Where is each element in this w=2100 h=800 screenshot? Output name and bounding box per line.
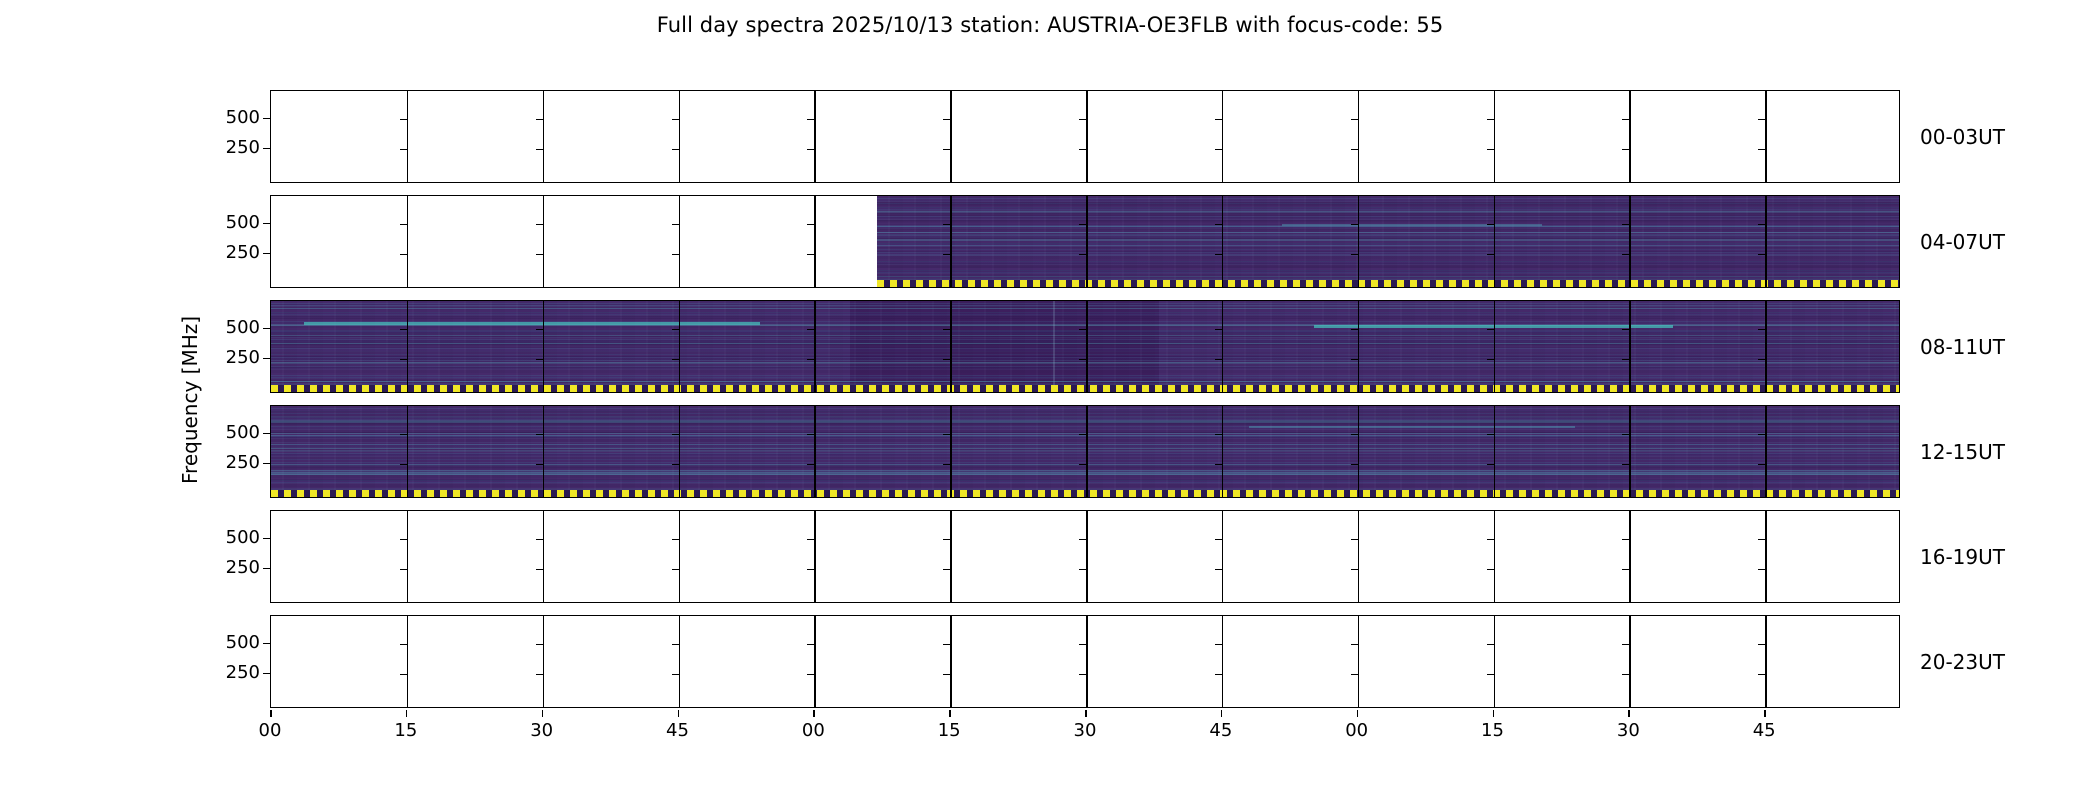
panel-axes <box>270 615 1900 708</box>
grid-line-vertical <box>1086 91 1088 182</box>
grid-line-vertical <box>1086 511 1088 602</box>
spectral-striation <box>877 226 1900 227</box>
y-tick-mark <box>263 328 270 330</box>
inner-tick-mark <box>1079 359 1086 361</box>
grid-line-vertical <box>1358 511 1360 602</box>
inner-tick-mark <box>943 359 950 361</box>
inner-tick-mark <box>1487 224 1494 226</box>
x-tick-mark <box>270 710 272 717</box>
inner-tick-mark <box>672 464 679 466</box>
grid-line-vertical <box>950 196 952 287</box>
axes-stack <box>270 90 1900 710</box>
grid-line-vertical <box>1629 616 1631 707</box>
grid-line-vertical <box>950 406 952 497</box>
inner-tick-mark <box>1758 254 1765 256</box>
inner-tick-mark <box>1215 539 1222 541</box>
inner-tick-mark <box>536 224 543 226</box>
inner-tick-mark <box>672 119 679 121</box>
x-tick-label: 45 <box>1209 722 1232 740</box>
inner-tick-mark <box>672 644 679 646</box>
grid-line-vertical <box>1629 301 1631 392</box>
spectrogram-panel-04-07ut <box>270 195 1900 288</box>
inner-tick-mark <box>672 569 679 571</box>
inner-tick-mark <box>943 539 950 541</box>
inner-tick-mark <box>536 329 543 331</box>
inner-tick-mark <box>1622 644 1629 646</box>
inner-tick-mark <box>1215 224 1222 226</box>
inner-tick-mark <box>1351 254 1358 256</box>
inner-tick-mark <box>807 674 814 676</box>
x-tick-mark <box>678 710 680 717</box>
grid-line-vertical <box>1629 91 1631 182</box>
inner-tick-mark <box>400 464 407 466</box>
x-tick-mark <box>1085 710 1087 717</box>
inner-tick-mark <box>1622 254 1629 256</box>
grid-line-vertical <box>1086 301 1088 392</box>
grid-line-vertical <box>679 406 681 497</box>
inner-tick-mark <box>1079 254 1086 256</box>
grid-line-vertical <box>1222 616 1224 707</box>
x-tick-label: 00 <box>1345 722 1368 740</box>
inner-tick-mark <box>1079 119 1086 121</box>
y-tick-mark <box>263 358 270 360</box>
grid-line-vertical <box>407 616 409 707</box>
spectral-striation <box>877 265 1900 266</box>
row-label-20-23ut: 20-23UT <box>1920 652 2005 672</box>
grid-line-vertical <box>814 406 816 497</box>
spectrogram-data <box>877 196 1900 287</box>
x-tick-label: 30 <box>1074 722 1097 740</box>
inner-tick-mark <box>1758 359 1765 361</box>
grid-line-vertical <box>814 91 816 182</box>
inner-tick-mark <box>807 329 814 331</box>
grid-line-vertical <box>1222 196 1224 287</box>
inner-tick-mark <box>807 644 814 646</box>
inner-tick-mark <box>672 539 679 541</box>
inner-tick-mark <box>400 674 407 676</box>
grid-line-vertical <box>1629 406 1631 497</box>
inner-tick-mark <box>400 569 407 571</box>
inner-tick-mark <box>943 569 950 571</box>
inner-tick-mark <box>1215 119 1222 121</box>
panel-axes <box>270 405 1900 498</box>
spectral-striation <box>877 251 1900 252</box>
y-tick-label: 500 <box>198 529 260 547</box>
y-tick-label: 250 <box>198 244 260 262</box>
bright-emission-band <box>304 322 760 325</box>
grid-line-vertical <box>814 196 816 287</box>
grid-line-vertical <box>407 91 409 182</box>
grid-line-vertical <box>950 301 952 392</box>
grid-line-vertical <box>407 301 409 392</box>
inner-tick-mark <box>1622 674 1629 676</box>
inner-tick-mark <box>1622 149 1629 151</box>
grid-line-vertical <box>1086 616 1088 707</box>
inner-tick-mark <box>807 359 814 361</box>
inner-tick-mark <box>1758 539 1765 541</box>
y-tick-label: 500 <box>198 109 260 127</box>
inner-tick-mark <box>672 434 679 436</box>
inner-tick-mark <box>1487 254 1494 256</box>
grid-line-vertical <box>814 616 816 707</box>
inner-tick-mark <box>1079 644 1086 646</box>
panel-axes <box>270 195 1900 288</box>
inner-tick-mark <box>943 149 950 151</box>
grid-line-vertical <box>814 301 816 392</box>
x-tick-mark <box>1221 710 1223 717</box>
row-label-04-07ut: 04-07UT <box>1920 232 2005 252</box>
grid-line-vertical <box>679 616 681 707</box>
grid-line-vertical <box>1358 406 1360 497</box>
inner-tick-mark <box>1758 119 1765 121</box>
panel-axes <box>270 300 1900 393</box>
grid-line-vertical <box>1222 91 1224 182</box>
y-tick-mark <box>263 463 270 465</box>
inner-tick-mark <box>807 224 814 226</box>
row-label-12-15ut: 12-15UT <box>1920 442 2005 462</box>
inner-tick-mark <box>1487 149 1494 151</box>
inner-tick-mark <box>1079 539 1086 541</box>
spectral-striation <box>877 261 1900 262</box>
spectral-striation <box>877 238 1900 239</box>
grid-line-vertical <box>543 616 545 707</box>
inner-tick-mark <box>1622 119 1629 121</box>
inner-tick-mark <box>807 254 814 256</box>
grid-line-vertical <box>1494 406 1496 497</box>
inner-tick-mark <box>400 434 407 436</box>
x-tick-label: 30 <box>1617 722 1640 740</box>
spectral-striation <box>877 254 1900 255</box>
inner-tick-mark <box>943 254 950 256</box>
grid-line-vertical <box>407 196 409 287</box>
grid-line-vertical <box>1629 196 1631 287</box>
x-tick-label: 15 <box>394 722 417 740</box>
inner-tick-mark <box>1622 434 1629 436</box>
inner-tick-mark <box>536 359 543 361</box>
vertical-streak <box>1053 301 1055 392</box>
x-tick-label: 00 <box>259 722 282 740</box>
y-tick-label: 500 <box>198 634 260 652</box>
y-tick-label: 250 <box>198 454 260 472</box>
inner-tick-mark <box>1758 329 1765 331</box>
inner-tick-mark <box>672 149 679 151</box>
spectrogram-panel-16-19ut <box>270 510 1900 603</box>
grid-line-vertical <box>543 511 545 602</box>
grid-line-vertical <box>407 406 409 497</box>
inner-tick-mark <box>1215 569 1222 571</box>
grid-line-vertical <box>679 301 681 392</box>
inner-tick-mark <box>1487 434 1494 436</box>
spectrogram-vertical-mottle <box>877 196 1900 287</box>
x-tick-label: 30 <box>530 722 553 740</box>
inner-tick-mark <box>1758 224 1765 226</box>
inner-tick-mark <box>1487 569 1494 571</box>
inner-tick-mark <box>943 119 950 121</box>
inner-tick-mark <box>1351 149 1358 151</box>
inner-tick-mark <box>1758 464 1765 466</box>
inner-tick-mark <box>943 674 950 676</box>
row-label-16-19ut: 16-19UT <box>1920 547 2005 567</box>
y-tick-mark <box>263 643 270 645</box>
inner-tick-mark <box>1622 359 1629 361</box>
inner-tick-mark <box>1487 329 1494 331</box>
grid-line-vertical <box>1494 301 1496 392</box>
inner-tick-mark <box>1758 434 1765 436</box>
y-tick-mark <box>263 673 270 675</box>
spectral-striation <box>877 276 1900 277</box>
inner-tick-mark <box>1215 434 1222 436</box>
bright-emission-band <box>1282 224 1543 226</box>
inner-tick-mark <box>400 254 407 256</box>
grid-line-vertical <box>1494 91 1496 182</box>
spectrogram-panel-00-03ut <box>270 90 1900 183</box>
inner-tick-mark <box>536 254 543 256</box>
inner-tick-mark <box>807 149 814 151</box>
spectral-striation <box>877 213 1900 215</box>
inner-tick-mark <box>1487 359 1494 361</box>
inner-tick-mark <box>1351 329 1358 331</box>
grid-line-vertical <box>814 511 816 602</box>
inner-tick-mark <box>1622 224 1629 226</box>
inner-tick-mark <box>672 329 679 331</box>
inner-tick-mark <box>536 674 543 676</box>
inner-tick-mark <box>1215 359 1222 361</box>
inner-tick-mark <box>807 119 814 121</box>
inner-tick-mark <box>1215 254 1222 256</box>
inner-tick-mark <box>1351 569 1358 571</box>
inner-tick-mark <box>1622 329 1629 331</box>
spectral-striation <box>877 232 1900 233</box>
spectral-striation <box>877 207 1900 208</box>
inner-tick-mark <box>536 644 543 646</box>
grid-line-vertical <box>1358 301 1360 392</box>
inner-tick-mark <box>1351 434 1358 436</box>
inner-tick-mark <box>536 539 543 541</box>
inner-tick-mark <box>1351 224 1358 226</box>
inner-tick-mark <box>400 644 407 646</box>
inner-tick-mark <box>536 464 543 466</box>
panel-axes <box>270 90 1900 183</box>
spectral-striation <box>877 204 1900 206</box>
x-tick-mark <box>406 710 408 717</box>
x-tick-mark <box>1357 710 1359 717</box>
grid-line-vertical <box>1494 196 1496 287</box>
grid-line-vertical <box>1765 406 1767 497</box>
x-tick-label: 45 <box>1753 722 1776 740</box>
inner-tick-mark <box>1351 644 1358 646</box>
y-tick-mark <box>263 568 270 570</box>
inner-tick-mark <box>400 149 407 151</box>
inner-tick-mark <box>1622 539 1629 541</box>
spectral-striation <box>877 220 1900 221</box>
grid-line-vertical <box>543 196 545 287</box>
inner-tick-mark <box>943 644 950 646</box>
spectral-striation <box>877 278 1900 279</box>
inner-tick-mark <box>1622 569 1629 571</box>
inner-tick-mark <box>1351 539 1358 541</box>
grid-line-vertical <box>1222 406 1224 497</box>
grid-line-vertical <box>1765 511 1767 602</box>
inner-tick-mark <box>536 119 543 121</box>
spectral-striation <box>877 217 1900 218</box>
x-tick-label: 15 <box>1481 722 1504 740</box>
inner-tick-mark <box>1487 464 1494 466</box>
grid-line-vertical <box>1765 196 1767 287</box>
grid-line-vertical <box>1358 196 1360 287</box>
y-tick-mark <box>263 538 270 540</box>
inner-tick-mark <box>400 539 407 541</box>
spectral-striation <box>877 263 1900 264</box>
y-tick-label: 500 <box>198 424 260 442</box>
inner-tick-mark <box>1079 224 1086 226</box>
y-tick-mark <box>263 118 270 120</box>
inner-tick-mark <box>1079 464 1086 466</box>
inner-tick-mark <box>1215 644 1222 646</box>
grid-line-vertical <box>1358 616 1360 707</box>
inner-tick-mark <box>1215 329 1222 331</box>
inner-tick-mark <box>1487 674 1494 676</box>
spectral-striation <box>877 271 1900 273</box>
inner-tick-mark <box>807 464 814 466</box>
inner-tick-mark <box>400 359 407 361</box>
inner-tick-mark <box>943 434 950 436</box>
spectral-striation <box>877 245 1900 246</box>
grid-line-vertical <box>950 616 952 707</box>
inner-tick-mark <box>943 464 950 466</box>
inner-tick-mark <box>1079 434 1086 436</box>
spectral-striation <box>877 215 1900 216</box>
inner-tick-mark <box>1487 539 1494 541</box>
inner-tick-mark <box>400 329 407 331</box>
grid-line-vertical <box>543 301 545 392</box>
x-tick-mark <box>542 710 544 717</box>
inner-tick-mark <box>1351 119 1358 121</box>
y-tick-mark <box>263 148 270 150</box>
inner-tick-mark <box>400 224 407 226</box>
inner-tick-mark <box>1351 359 1358 361</box>
inner-tick-mark <box>672 674 679 676</box>
inner-tick-mark <box>1758 149 1765 151</box>
grid-line-vertical <box>679 511 681 602</box>
grid-line-vertical <box>1494 511 1496 602</box>
y-tick-label: 250 <box>198 559 260 577</box>
x-tick-mark <box>1493 710 1495 717</box>
inner-tick-mark <box>400 119 407 121</box>
spectral-striation <box>877 235 1900 236</box>
grid-line-vertical <box>1765 91 1767 182</box>
inner-tick-mark <box>1215 464 1222 466</box>
grid-line-vertical <box>950 511 952 602</box>
inner-tick-mark <box>1215 674 1222 676</box>
inner-tick-mark <box>1351 464 1358 466</box>
x-tick-label: 15 <box>938 722 961 740</box>
grid-line-vertical <box>543 406 545 497</box>
spectrogram-panel-12-15ut <box>270 405 1900 498</box>
inner-tick-mark <box>1079 329 1086 331</box>
grid-line-vertical <box>1086 406 1088 497</box>
grid-line-vertical <box>1222 511 1224 602</box>
spectral-striation <box>877 228 1900 230</box>
inner-tick-mark <box>1079 569 1086 571</box>
inner-tick-mark <box>1079 674 1086 676</box>
spectrogram-panel-20-23ut <box>270 615 1900 708</box>
inner-tick-mark <box>672 224 679 226</box>
grid-line-vertical <box>1086 196 1088 287</box>
row-label-08-11ut: 08-11UT <box>1920 337 2005 357</box>
grid-line-vertical <box>679 196 681 287</box>
x-tick-mark <box>1628 710 1630 717</box>
figure-canvas: Full day spectra 2025/10/13 station: AUS… <box>0 0 2100 800</box>
grid-line-vertical <box>1222 301 1224 392</box>
inner-tick-mark <box>536 149 543 151</box>
page-title: Full day spectra 2025/10/13 station: AUS… <box>0 13 2100 37</box>
x-tick-mark <box>949 710 951 717</box>
grid-line-vertical <box>950 91 952 182</box>
inner-tick-mark <box>807 539 814 541</box>
y-tick-mark <box>263 223 270 225</box>
inner-tick-mark <box>1758 569 1765 571</box>
grid-line-vertical <box>543 91 545 182</box>
inner-tick-mark <box>1215 149 1222 151</box>
grid-line-vertical <box>1629 511 1631 602</box>
spectral-striation <box>877 247 1900 248</box>
inner-tick-mark <box>536 434 543 436</box>
grid-line-vertical <box>1765 301 1767 392</box>
inner-tick-mark <box>672 254 679 256</box>
y-tick-label: 250 <box>198 664 260 682</box>
inner-tick-mark <box>1758 644 1765 646</box>
grid-line-vertical <box>679 91 681 182</box>
x-tick-mark <box>1764 710 1766 717</box>
saturation-strip <box>877 280 1900 287</box>
inner-tick-mark <box>807 434 814 436</box>
inner-tick-mark <box>1487 119 1494 121</box>
inner-tick-mark <box>1487 644 1494 646</box>
x-axis: 001530450015304500153045 <box>270 710 1900 760</box>
grid-line-vertical <box>1494 616 1496 707</box>
inner-tick-mark <box>1622 464 1629 466</box>
bright-emission-band <box>1249 426 1575 428</box>
inner-tick-mark <box>536 569 543 571</box>
spectrogram-panel-08-11ut <box>270 300 1900 393</box>
y-tick-label: 500 <box>198 319 260 337</box>
inner-tick-mark <box>672 359 679 361</box>
grid-line-vertical <box>1765 616 1767 707</box>
panel-axes <box>270 510 1900 603</box>
inner-tick-mark <box>943 329 950 331</box>
y-tick-mark <box>263 433 270 435</box>
inner-tick-mark <box>943 224 950 226</box>
row-label-00-03ut: 00-03UT <box>1920 127 2005 147</box>
y-tick-label: 250 <box>198 349 260 367</box>
spectral-striation <box>877 239 1900 241</box>
inner-tick-mark <box>807 569 814 571</box>
y-tick-label: 500 <box>198 214 260 232</box>
inner-tick-mark <box>1351 674 1358 676</box>
grid-line-vertical <box>1358 91 1360 182</box>
x-tick-label: 00 <box>802 722 825 740</box>
x-tick-label: 45 <box>666 722 689 740</box>
grid-line-vertical <box>407 511 409 602</box>
inner-tick-mark <box>1758 674 1765 676</box>
spectral-striation <box>877 266 1900 268</box>
y-tick-mark <box>263 253 270 255</box>
inner-tick-mark <box>1079 149 1086 151</box>
x-tick-mark <box>813 710 815 717</box>
y-tick-label: 250 <box>198 139 260 157</box>
